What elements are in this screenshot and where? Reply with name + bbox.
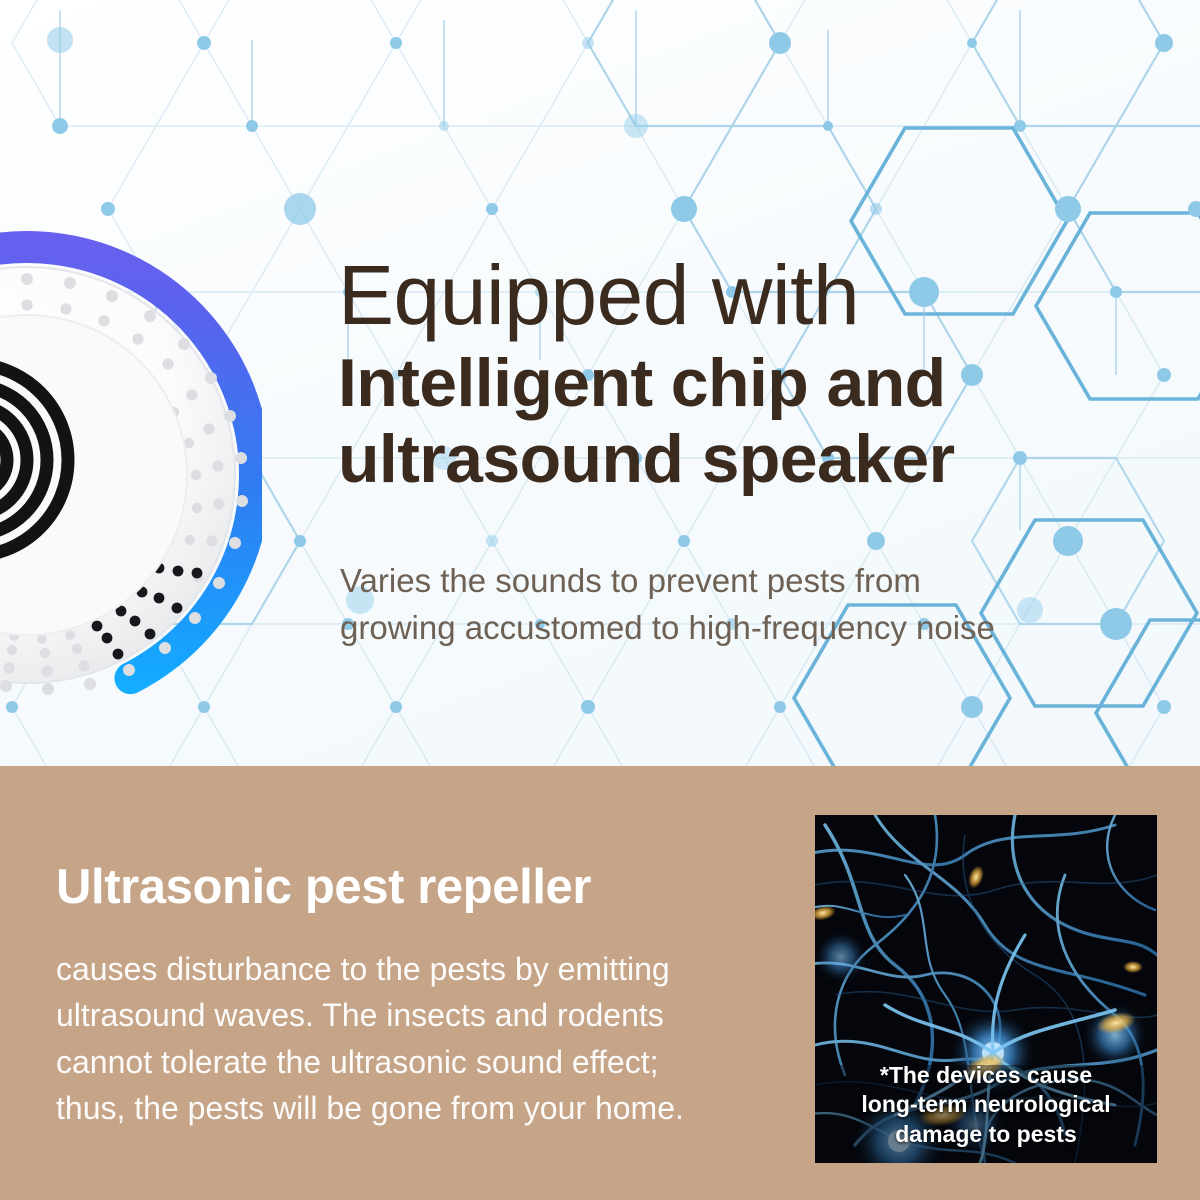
section-heading: Ultrasonic pest repeller xyxy=(56,859,591,915)
headline-line-1: Equipped with xyxy=(338,256,1018,335)
body-line-1: causes disturbance to the pests by emitt… xyxy=(56,946,786,992)
body-line-4: thus, the pests will be gone from your h… xyxy=(56,1085,786,1131)
body-line-2: ultrasound waves. The insects and rodent… xyxy=(56,992,786,1038)
section-body-text: causes disturbance to the pests by emitt… xyxy=(56,946,786,1132)
caption-line-1: *The devices cause xyxy=(815,1061,1157,1090)
body-line-3: cannot tolerate the ultrasonic sound eff… xyxy=(56,1039,786,1085)
hero-section: Equipped with Intelligent chip and ultra… xyxy=(0,0,1200,766)
ultrasonic-info-section: Ultrasonic pest repeller causes disturba… xyxy=(0,766,1200,1200)
subheadline-line-1: Varies the sounds to prevent pests from xyxy=(340,558,1040,605)
subheadline-line-2: growing accustomed to high-frequency noi… xyxy=(340,605,1040,652)
headline-line-2: Intelligent chip and xyxy=(338,345,1018,421)
neuron-network-figure: *The devices cause long-term neurologica… xyxy=(815,815,1157,1163)
caption-line-3: damage to pests xyxy=(815,1120,1157,1149)
figure-caption: *The devices cause long-term neurologica… xyxy=(815,1061,1157,1149)
caption-line-2: long-term neurological xyxy=(815,1090,1157,1119)
headline-line-3: ultrasound speaker xyxy=(338,421,1018,497)
hero-headline: Equipped with Intelligent chip and ultra… xyxy=(338,256,1018,497)
infographic-page: Equipped with Intelligent chip and ultra… xyxy=(0,0,1200,1200)
hero-subheadline: Varies the sounds to prevent pests from … xyxy=(340,558,1040,652)
